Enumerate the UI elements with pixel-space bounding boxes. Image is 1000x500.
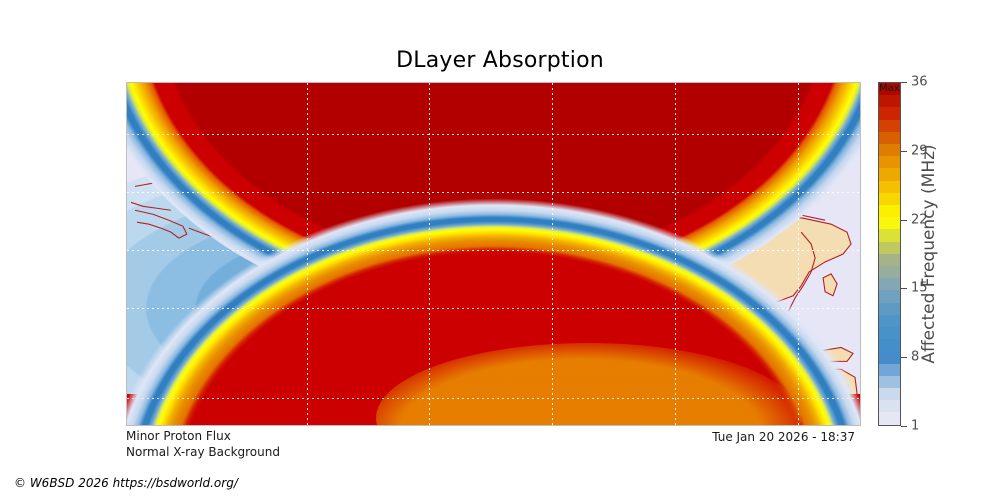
colorbar-segment	[879, 388, 900, 400]
colorbar-segment	[879, 181, 900, 193]
colorbar-segment	[879, 315, 900, 327]
xray-background-note: Normal X-ray Background	[126, 444, 280, 460]
gridline-lat-minus30	[127, 308, 860, 309]
colorbar-segment	[879, 364, 900, 376]
colorbar-gradient	[878, 82, 901, 426]
colorbar-segment	[879, 168, 900, 180]
colorbar-segment	[879, 278, 900, 290]
colorbar-segment	[879, 242, 900, 254]
colorbar-segment	[879, 132, 900, 144]
colorbar-segment	[879, 229, 900, 241]
colorbar-segment	[879, 303, 900, 315]
colorbar-segment	[879, 254, 900, 266]
colorbar-segment	[879, 107, 900, 119]
colorbar-segment	[879, 351, 900, 363]
colorbar-segment	[879, 376, 900, 388]
colorbar-segment	[879, 412, 900, 424]
gridline-lat-30	[127, 192, 860, 193]
gridline-lat-0	[127, 250, 860, 251]
colorbar-tick	[901, 82, 907, 83]
gridline-lat-minus60	[127, 398, 860, 399]
colorbar-segment	[879, 193, 900, 205]
colorbar-axis-label: Affected Frequency (MHz)	[918, 82, 940, 426]
colorbar-segment	[879, 266, 900, 278]
colorbar-segment	[879, 217, 900, 229]
colorbar-max-label: Max	[879, 83, 900, 94]
copyright-notice: © W6BSD 2026 https://bsdworld.org/	[14, 476, 238, 490]
colorbar-tick	[901, 220, 907, 221]
colorbar-segment	[879, 205, 900, 217]
gridline-lat-60	[127, 134, 860, 135]
colorbar-tick	[901, 151, 907, 152]
colorbar-tick	[901, 288, 907, 289]
colorbar-segment	[879, 339, 900, 351]
colorbar-segment	[879, 144, 900, 156]
colorbar[interactable]: Max	[878, 82, 901, 426]
absorption-map[interactable]	[126, 82, 861, 426]
colorbar-segment	[879, 120, 900, 132]
timestamp: Tue Jan 20 2026 - 18:37	[0, 430, 855, 444]
colorbar-segment	[879, 327, 900, 339]
figure-root: DLayer Absorption	[0, 0, 1000, 500]
colorbar-segment	[879, 290, 900, 302]
colorbar-segment	[879, 156, 900, 168]
page-title: DLayer Absorption	[0, 48, 1000, 73]
colorbar-tick	[901, 426, 907, 427]
colorbar-segment	[879, 400, 900, 412]
colorbar-tick	[901, 357, 907, 358]
colorbar-segment	[879, 95, 900, 107]
